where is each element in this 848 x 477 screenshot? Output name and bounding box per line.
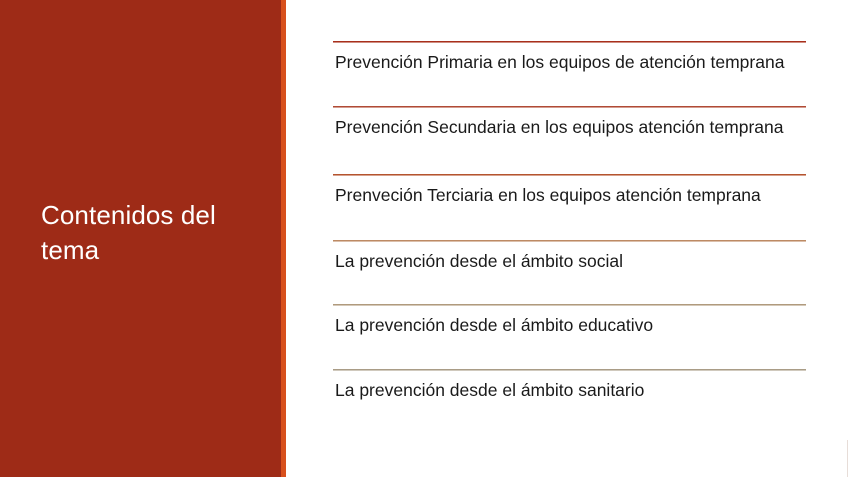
list-item-label: Prenveción Terciaria en los equipos aten…	[335, 183, 800, 208]
content-list: Prevención Primaria en los equipos de at…	[333, 0, 806, 477]
list-item-label: Prevención Secundaria en los equipos ate…	[335, 115, 800, 140]
list-item-label: La prevención desde el ámbito sanitario	[335, 378, 800, 403]
list-item-divider	[333, 106, 806, 108]
list-item-divider	[333, 240, 806, 242]
divider-line-bottom	[333, 305, 806, 306]
divider-line-bottom	[333, 107, 806, 108]
list-item[interactable]: La prevención desde el ámbito educativo	[333, 304, 806, 369]
divider-line-bottom	[333, 42, 806, 43]
list-item[interactable]: La prevención desde el ámbito sanitario	[333, 369, 806, 433]
list-item[interactable]: Prevención Primaria en los equipos de at…	[333, 41, 806, 105]
list-item-label: La prevención desde el ámbito social	[335, 249, 800, 274]
list-item-divider	[333, 369, 806, 371]
list-item-divider	[333, 41, 806, 43]
list-item[interactable]: Prenveción Terciaria en los equipos aten…	[333, 174, 806, 239]
list-item-label: Prevención Primaria en los equipos de at…	[335, 50, 800, 75]
list-item[interactable]: Prevención Secundaria en los equipos ate…	[333, 106, 806, 173]
list-item[interactable]: La prevención desde el ámbito social	[333, 240, 806, 304]
title-panel-accent-stripe	[281, 0, 286, 477]
slide-canvas: Contenidos del tema Prevención Primaria …	[0, 0, 848, 477]
divider-line-bottom	[333, 175, 806, 176]
divider-line-bottom	[333, 370, 806, 371]
list-item-divider	[333, 304, 806, 306]
page-title: Contenidos del tema	[41, 198, 256, 268]
list-item-divider	[333, 174, 806, 176]
divider-line-bottom	[333, 241, 806, 242]
list-item-label: La prevención desde el ámbito educativo	[335, 313, 800, 338]
